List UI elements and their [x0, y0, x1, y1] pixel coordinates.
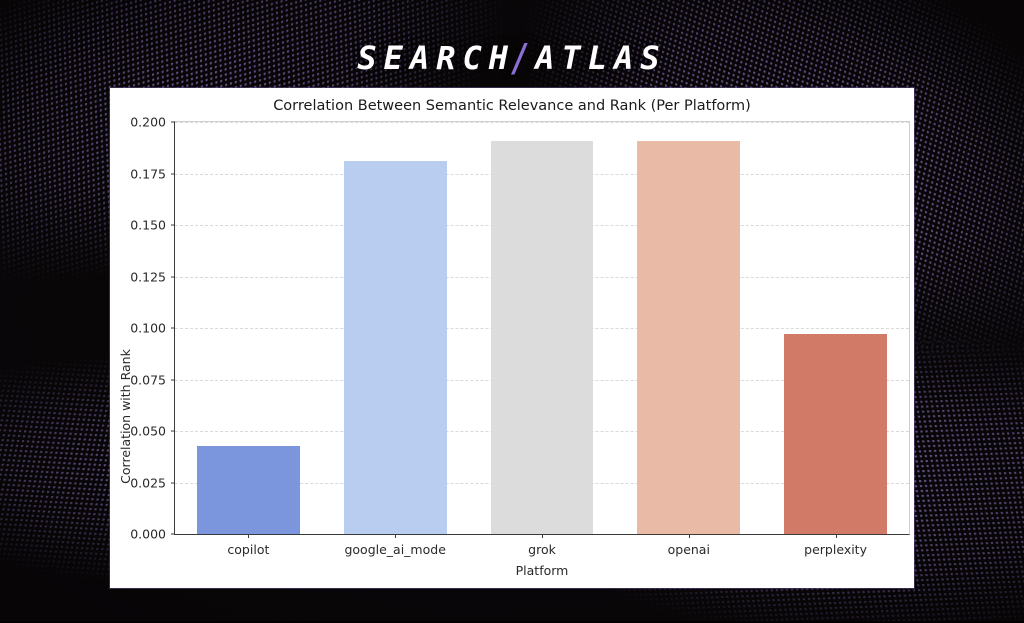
y-axis-tick-label: 0.075: [130, 372, 166, 387]
x-axis-tick-label-google_ai_mode: google_ai_mode: [344, 542, 445, 557]
brand-name-right: ATLAS: [535, 39, 666, 77]
bar-slot: openai: [615, 122, 762, 534]
plot-area: 0.0000.0250.0500.0750.1000.1250.1500.175…: [174, 121, 910, 535]
y-axis-tick-label: 0.175: [130, 166, 166, 181]
x-axis-tick-mark: [395, 534, 396, 538]
x-axis-tick-mark: [248, 534, 249, 538]
x-axis-tick-label-copilot: copilot: [227, 542, 269, 557]
bar-openai[interactable]: [637, 141, 740, 534]
y-axis-tick-label: 0.200: [130, 115, 166, 130]
y-axis-tick-label: 0.000: [130, 527, 166, 542]
y-axis-tick-label: 0.100: [130, 321, 166, 336]
bar-slot: grok: [469, 122, 616, 534]
y-axis-label-text: Correlation with Rank: [118, 349, 133, 484]
bar-copilot[interactable]: [197, 446, 300, 534]
bar-series: copilotgoogle_ai_modegrokopenaiperplexit…: [175, 122, 909, 534]
x-axis-tick-label-perplexity: perplexity: [804, 542, 867, 557]
brand-slash-icon: /: [511, 39, 537, 77]
bar-google_ai_mode[interactable]: [344, 161, 447, 534]
x-axis-tick-label-grok: grok: [528, 542, 556, 557]
x-axis-label: Platform: [174, 563, 910, 578]
bar-grok[interactable]: [491, 141, 594, 534]
x-axis-tick-label-openai: openai: [668, 542, 710, 557]
y-axis-label: Correlation with Rank: [116, 209, 134, 623]
x-axis-tick-mark: [542, 534, 543, 538]
brand-logo-text: SEARCH/ATLAS: [357, 42, 666, 74]
chart-card: Correlation Between Semantic Relevance a…: [110, 88, 914, 588]
y-axis-tick-label: 0.025: [130, 475, 166, 490]
y-axis-tick-label: 0.125: [130, 269, 166, 284]
chart-title: Correlation Between Semantic Relevance a…: [110, 98, 914, 114]
y-axis-tick-label: 0.150: [130, 218, 166, 233]
brand-name-left: SEARCH: [357, 39, 515, 77]
brand-logo: SEARCH/ATLAS: [0, 34, 1024, 82]
bar-slot: google_ai_mode: [322, 122, 469, 534]
bar-slot: copilot: [175, 122, 322, 534]
bar-perplexity[interactable]: [784, 334, 887, 534]
x-axis-tick-mark: [836, 534, 837, 538]
bar-slot: perplexity: [762, 122, 909, 534]
x-axis-tick-mark: [689, 534, 690, 538]
y-axis-tick-label: 0.050: [130, 424, 166, 439]
